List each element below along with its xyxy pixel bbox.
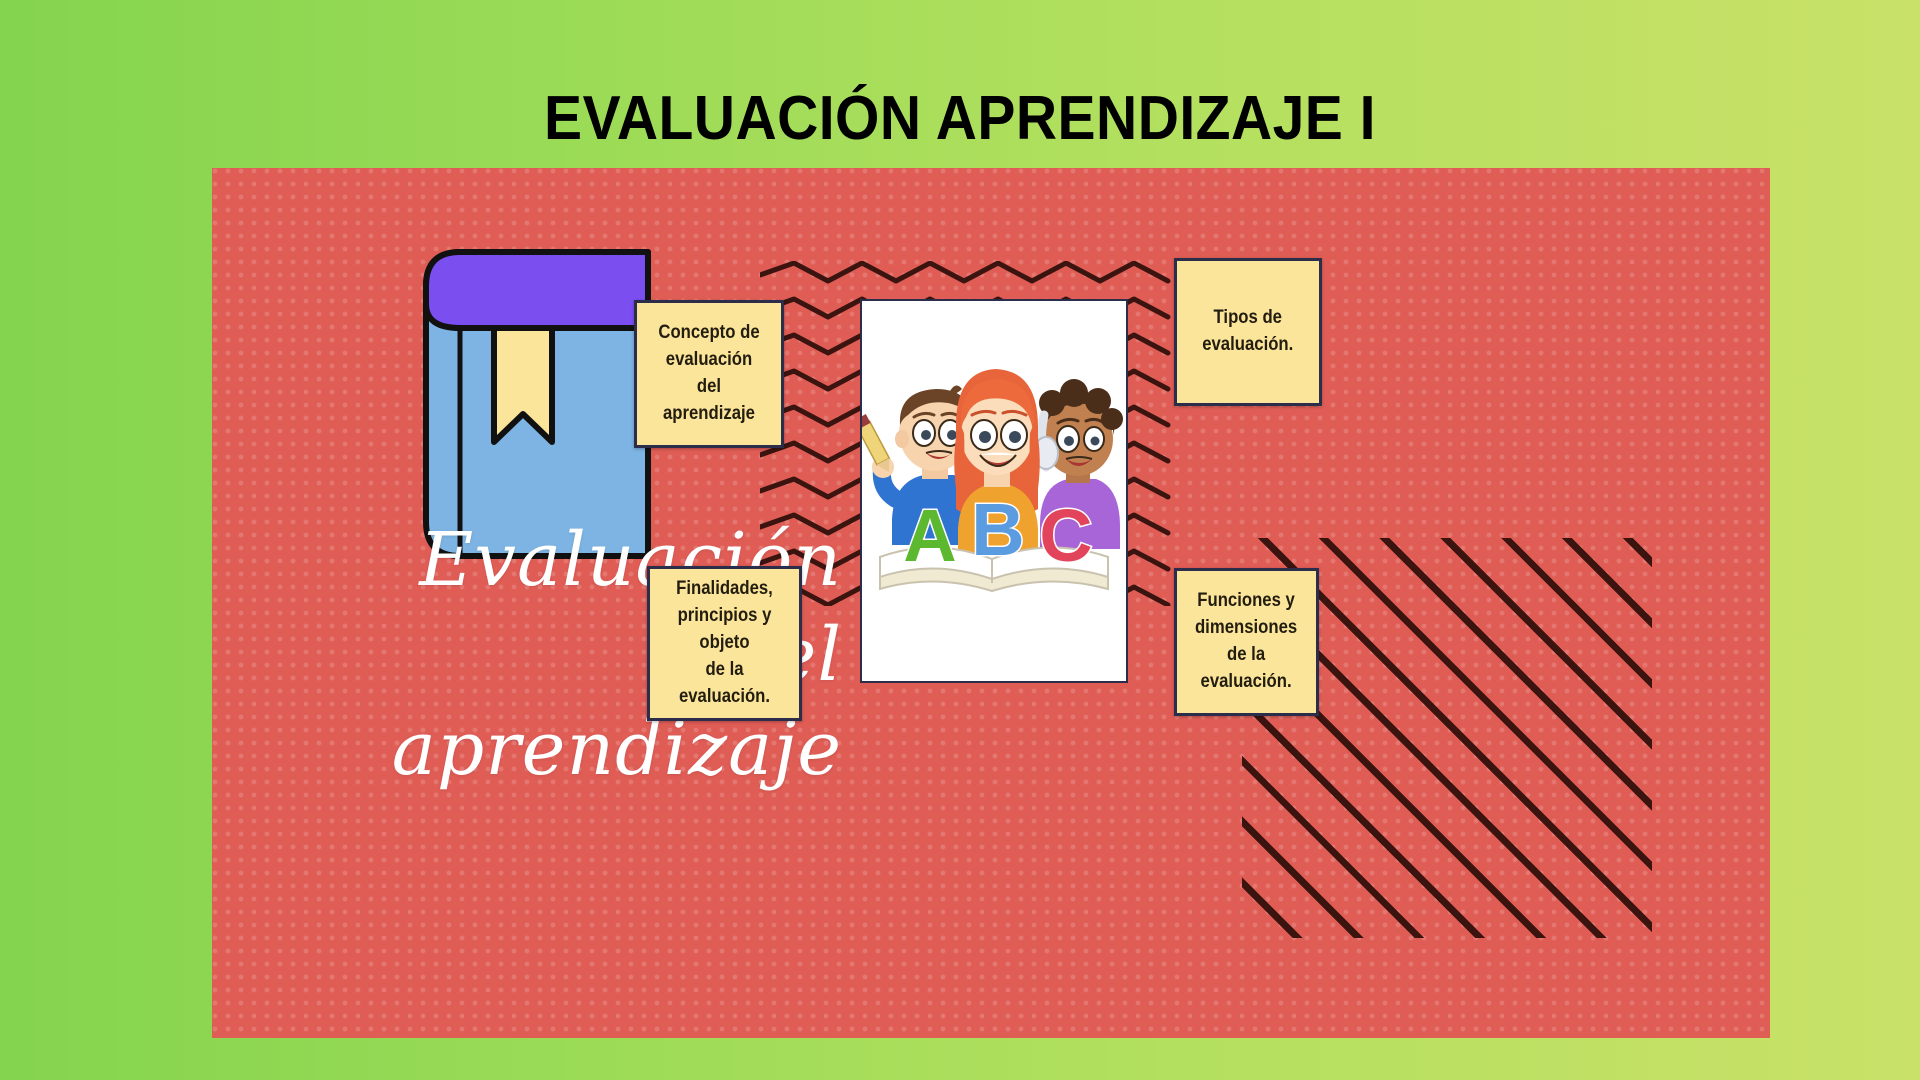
letter-a: A [903,494,956,577]
slide-canvas: EVALUACIÓN APRENDIZAJE I [0,0,1920,1080]
sticky-note-funciones[interactable]: Funciones y dimensiones de la evaluación… [1174,568,1319,716]
sticky-note-text: Finalidades, principios y objeto de la e… [659,576,790,711]
sticky-note-tipos[interactable]: Tipos de evaluación. [1174,258,1322,406]
content-panel: Evaluación del aprendizaje Concepto de e… [212,168,1770,1038]
letter-b: B [971,488,1024,571]
sticky-note-text: Tipos de evaluación. [1195,305,1300,359]
sticky-note-finalidades[interactable]: Finalidades, principios y objeto de la e… [647,566,802,721]
page-title: EVALUACIÓN APRENDIZAJE I [77,88,1843,150]
sticky-note-concepto[interactable]: Concepto de evaluación del aprendizaje [634,300,784,448]
photo-card[interactable]: A B C [860,299,1128,683]
letter-c: C [1039,494,1092,577]
sticky-note-text: Concepto de evaluación del aprendizaje [646,320,773,428]
sticky-note-text: Funciones y dimensiones de la evaluación… [1188,588,1304,696]
three-children-with-abc-book-icon: A B C [862,349,1126,597]
